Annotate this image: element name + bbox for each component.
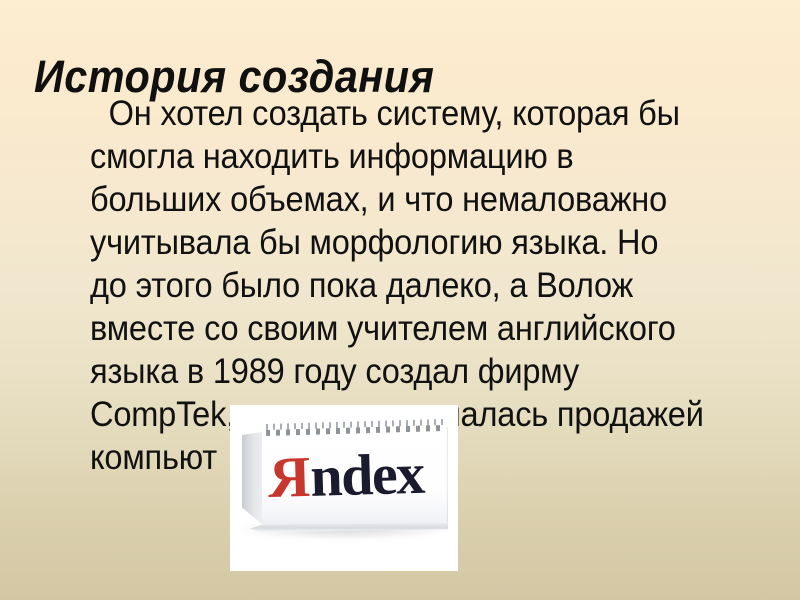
yandex-logo-ndex-text: ndex [309,441,424,509]
body-line: учитывала бы морфологию языка. Но [90,221,732,264]
body-line: больших объемах, и что немаловажно [90,178,732,221]
body-line: Он хотел создать систему, которая бы [90,92,732,135]
body-line: вместе со своим учителем английского [90,307,732,350]
slide-canvas: История создания Он хотел создать систем… [0,0,800,600]
yandex-logo: Rndex [269,442,443,509]
body-line: смогла находить информацию в [90,135,732,178]
yandex-logo-ya-letter: R [269,446,311,509]
yandex-calendar-image: Rndex [230,405,458,571]
calendar-illustration: Rndex [230,405,458,571]
body-line: языка в 1989 году создал фирму [90,350,732,393]
body-line: до этого было пока далеко, а Волож [90,264,732,307]
